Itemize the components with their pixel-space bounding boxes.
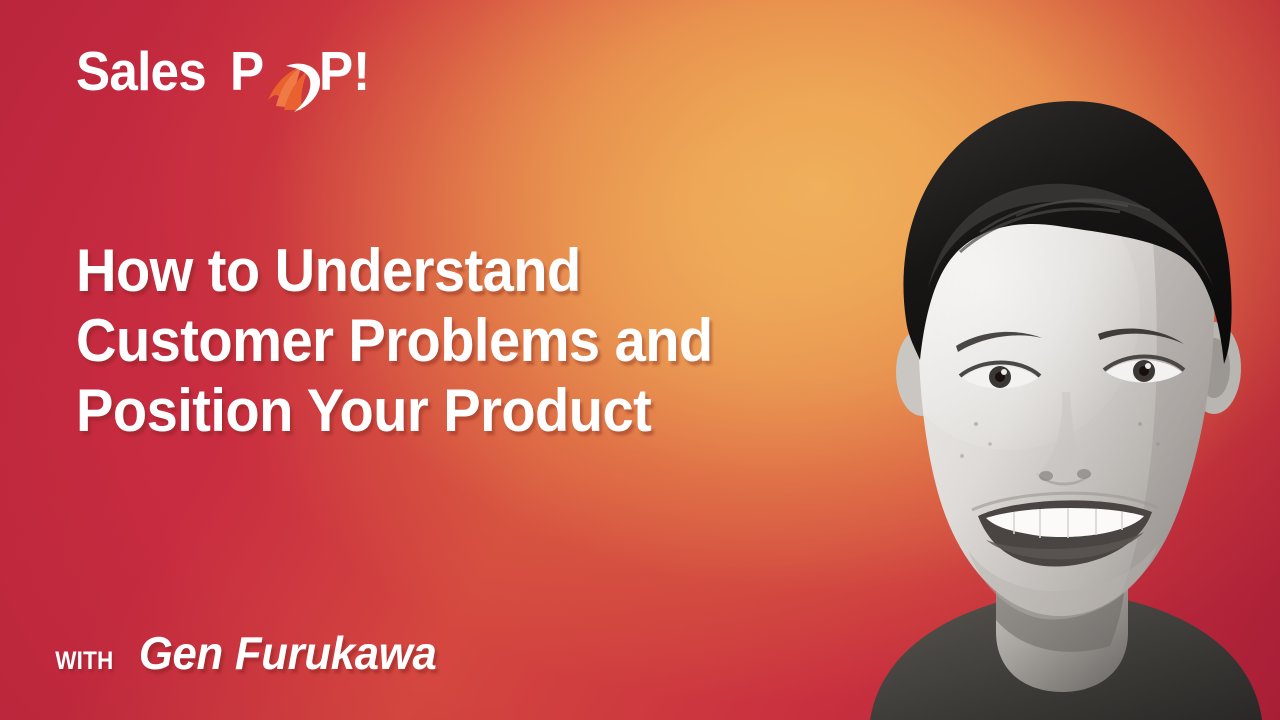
brand-logo-letter-p-second: P! <box>319 44 370 99</box>
presenter-with-label: WITH <box>55 647 113 676</box>
presenter-credit: WITH Gen Furukawa <box>52 626 444 680</box>
brand-logo[interactable]: Sales P P! <box>76 44 374 110</box>
brand-logo-letter-p-first: P <box>230 44 264 99</box>
brand-logo-word: Sales <box>76 44 206 99</box>
video-thumbnail: Sales P P! How to Understand Customer Pr… <box>0 0 1280 720</box>
presenter-name: Gen Furukawa <box>139 626 437 680</box>
video-title: How to Understand Customer Problems and … <box>76 236 731 446</box>
pop-swoosh-logo-mark <box>264 60 322 116</box>
